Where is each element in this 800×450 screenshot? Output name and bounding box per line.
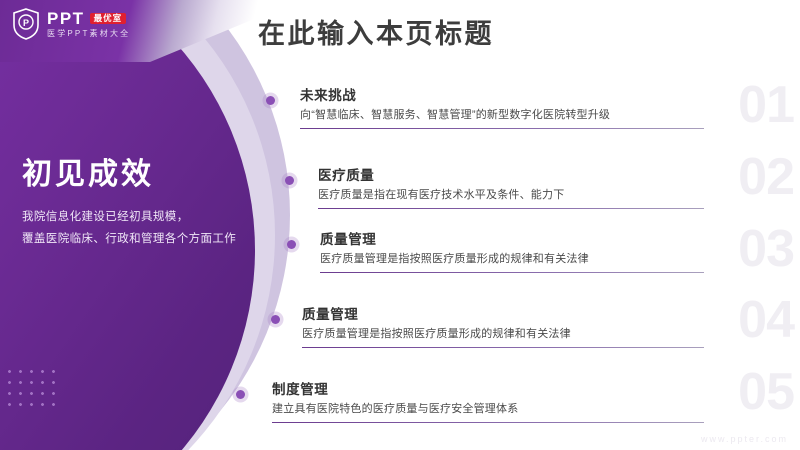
list-item-underline <box>318 208 704 210</box>
bullet-icon <box>285 176 294 185</box>
brand-logo[interactable]: P PPT 最优室 医学PPT素材大全 <box>12 8 130 40</box>
page-title: 在此输入本页标题 <box>258 18 494 50</box>
list-item-desc: 医疗质量是指在现有医疗技术水平及条件、能力下 <box>318 188 710 204</box>
logo-tagline: 医学PPT素材大全 <box>47 30 130 38</box>
list-item-heading: 质量管理 <box>302 307 710 324</box>
list-item[interactable]: 质量管理 医疗质量管理是指按照医疗质量形成的规律和有关法律 <box>320 232 710 273</box>
list-item-underline <box>300 128 704 130</box>
list-item[interactable]: 制度管理 建立具有医院特色的医疗质量与医疗安全管理体系 <box>272 382 710 423</box>
list-item-underline <box>320 272 704 274</box>
bullet-icon <box>287 240 296 249</box>
footer-watermark: www.ppter.com <box>701 434 788 444</box>
list-item-underline <box>302 347 704 349</box>
list-item-heading: 未来挑战 <box>300 88 710 105</box>
bullet-icon <box>271 315 280 324</box>
list-item-underline <box>272 422 704 424</box>
bullet-icon <box>236 390 245 399</box>
list-item-desc: 医疗质量管理是指按照医疗质量形成的规律和有关法律 <box>302 327 710 343</box>
logo-badge: 最优室 <box>90 13 127 25</box>
list-item-heading: 质量管理 <box>320 232 710 249</box>
list-item-desc: 医疗质量管理是指按照医疗质量形成的规律和有关法律 <box>320 252 710 268</box>
list-item-heading: 医疗质量 <box>318 168 710 185</box>
content-item-list: 未来挑战 向“智慧临床、智慧服务、智慧管理”的新型数字化医院转型升级 医疗质量 … <box>0 0 800 450</box>
list-item[interactable]: 未来挑战 向“智慧临床、智慧服务、智慧管理”的新型数字化医院转型升级 <box>300 88 710 129</box>
list-item-desc: 向“智慧临床、智慧服务、智慧管理”的新型数字化医院转型升级 <box>300 108 710 124</box>
list-item[interactable]: 质量管理 医疗质量管理是指按照医疗质量形成的规律和有关法律 <box>302 307 710 348</box>
bullet-icon <box>266 96 275 105</box>
list-item[interactable]: 医疗质量 医疗质量是指在现有医疗技术水平及条件、能力下 <box>318 168 710 209</box>
shield-icon: P <box>12 8 40 40</box>
slide-canvas: P PPT 最优室 医学PPT素材大全 在此输入本页标题 初见成效 我院信息化建… <box>0 0 800 450</box>
svg-text:P: P <box>23 18 29 28</box>
list-item-desc: 建立具有医院特色的医疗质量与医疗安全管理体系 <box>272 402 710 418</box>
logo-wordmark: PPT <box>47 10 85 27</box>
list-item-heading: 制度管理 <box>272 382 710 399</box>
